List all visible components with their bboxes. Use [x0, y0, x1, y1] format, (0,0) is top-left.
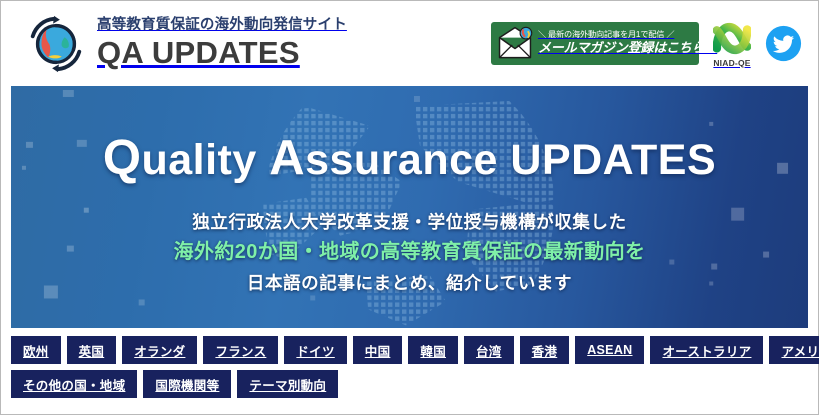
hero-subtitle-line-3: 日本語の記事にまとめ、紹介しています — [174, 269, 646, 297]
mail-magazine-subtext: ＼ 最新の海外動向記事を月1で配信 ／ — [538, 30, 717, 40]
nav-button-other-countries[interactable]: その他の国・地域 — [11, 370, 137, 398]
mail-magazine-texts: ＼ 最新の海外動向記事を月1で配信 ／ メールマガジン登録はこちら！ — [538, 30, 717, 57]
nav-button-usa[interactable]: アメリカ合衆国 — [769, 336, 819, 364]
site-title: QA UPDATES — [97, 36, 347, 71]
envelope-globe-icon — [495, 26, 535, 62]
hero-title-uality: uality — [141, 136, 269, 184]
site-tagline: 高等教育質保証の海外動向発信サイト — [97, 17, 347, 33]
nav-button-taiwan[interactable]: 台湾 — [464, 336, 514, 364]
nav-button-china[interactable]: 中国 — [353, 336, 403, 364]
mail-magazine-label: メールマガジン登録はこちら！ — [538, 40, 717, 57]
nav-button-australia[interactable]: オーストラリア — [650, 336, 763, 364]
nav-button-korea[interactable]: 韓国 — [408, 336, 458, 364]
hero-title-q: Q — [103, 131, 142, 185]
nav-button-intl-organizations[interactable]: 国際機関等 — [143, 370, 231, 398]
twitter-bird-icon[interactable] — [765, 25, 802, 62]
site-brand-link[interactable]: 高等教育質保証の海外動向発信サイト QA UPDATES — [25, 13, 347, 75]
nav-button-uk[interactable]: 英国 — [67, 336, 117, 364]
hero-subtitle-line-2: 海外約20か国・地域の高等教育質保証の最新動向を — [174, 236, 646, 268]
nav-button-france[interactable]: フランス — [203, 336, 278, 364]
region-nav-row-2: その他の国・地域 国際機関等 テーマ別動向 — [11, 370, 808, 398]
hero-subtitle-line-1: 独立行政法人大学改革支援・学位授与機構が収集した — [174, 208, 646, 236]
nav-button-thematic-trends[interactable]: テーマ別動向 — [237, 370, 338, 398]
nav-button-europe[interactable]: 欧州 — [11, 336, 61, 364]
header-right-group: ＼ 最新の海外動向記事を月1で配信 ／ メールマガジン登録はこちら！ — [491, 1, 808, 86]
brand-text-block: 高等教育質保証の海外動向発信サイト QA UPDATES — [97, 16, 347, 71]
region-nav: 欧州 英国 オランダ フランス ドイツ 中国 韓国 台湾 香港 ASEAN オー… — [1, 328, 818, 398]
hero-title-updates: UPDATES — [510, 136, 716, 184]
nav-button-hongkong[interactable]: 香港 — [520, 336, 570, 364]
region-nav-row-1: 欧州 英国 オランダ フランス ドイツ 中国 韓国 台湾 香港 ASEAN オー… — [11, 336, 808, 364]
niad-qe-label: NIAD-QE — [713, 58, 750, 68]
globe-refresh-icon — [25, 13, 87, 75]
mail-magazine-button[interactable]: ＼ 最新の海外動向記事を月1で配信 ／ メールマガジン登録はこちら！ — [491, 22, 699, 65]
hero-subtitle: 独立行政法人大学改革支援・学位授与機構が収集した 海外約20か国・地域の高等教育… — [174, 208, 646, 297]
nav-button-netherlands[interactable]: オランダ — [122, 336, 197, 364]
hero-title-a: A — [269, 131, 305, 185]
nav-button-asean[interactable]: ASEAN — [575, 336, 644, 364]
nav-button-germany[interactable]: ドイツ — [284, 336, 346, 364]
niad-qe-link[interactable]: NIAD-QE — [713, 20, 751, 68]
hero-content: Quality Assurance UPDATES 独立行政法人大学改革支援・学… — [11, 86, 808, 328]
hero-title-ssurance: ssurance — [305, 136, 510, 184]
site-header: 高等教育質保証の海外動向発信サイト QA UPDATES — [1, 1, 818, 86]
page-root: 高等教育質保証の海外動向発信サイト QA UPDATES — [0, 0, 819, 415]
niad-qe-logo-icon — [713, 20, 751, 56]
hero-title: Quality Assurance UPDATES — [103, 130, 716, 186]
hero-banner: Quality Assurance UPDATES 独立行政法人大学改革支援・学… — [11, 86, 808, 328]
